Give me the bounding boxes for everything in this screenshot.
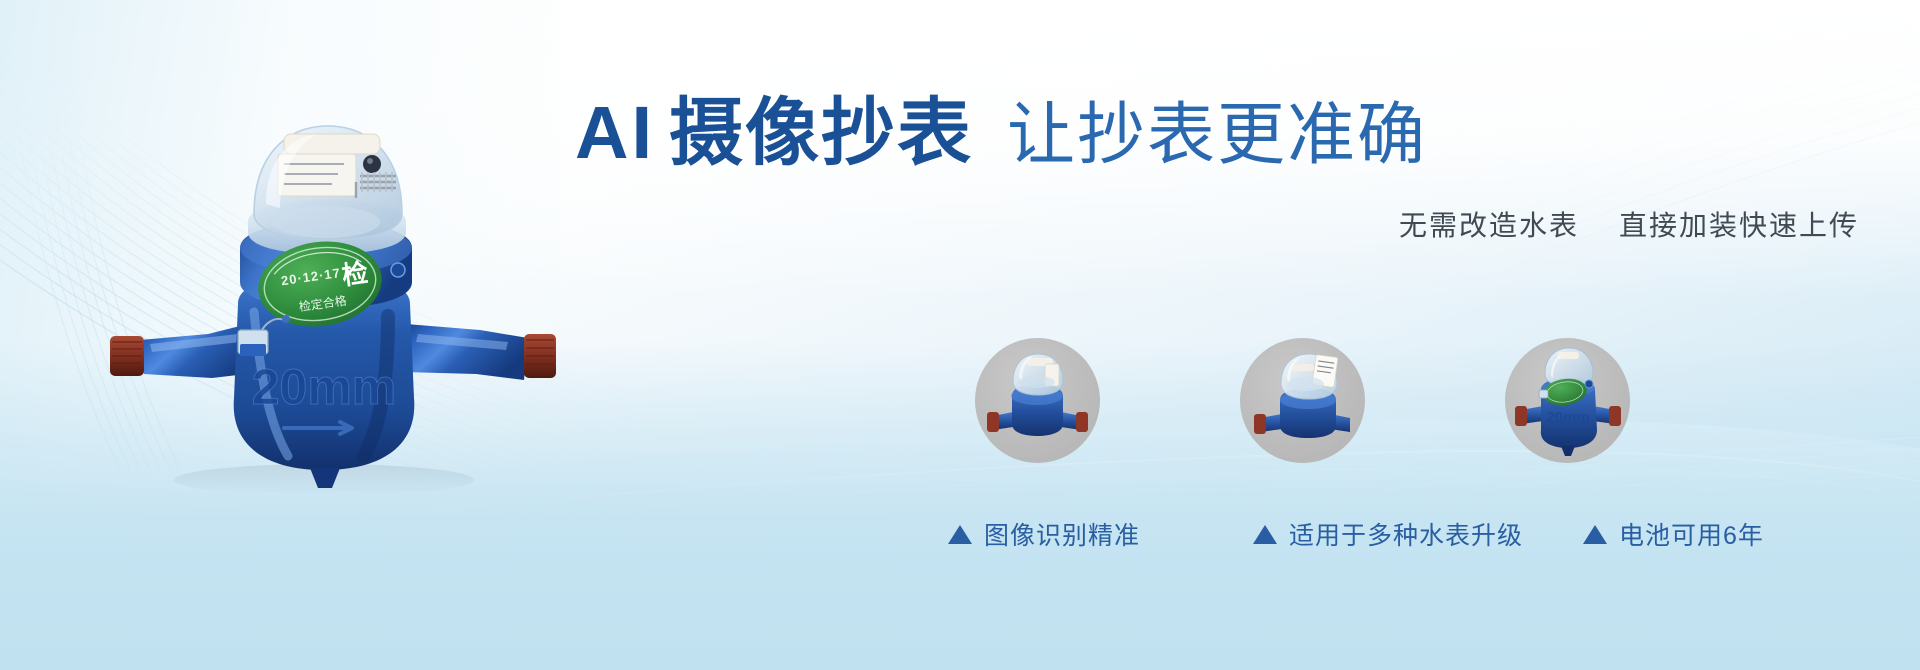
headline-tagline: 让抄表更准确 [1007,97,1427,173]
cap-screw [391,263,405,277]
feature-item-image-recognition: 图像识别精准 [948,516,1253,552]
hero-product-image: 20mm N8F [88,72,558,492]
triangle-marker-icon [1253,525,1277,544]
headline-ai: AI [575,91,655,174]
feature-label-2: 适用于多种水表升级 [1289,516,1523,552]
thumbnail-item-3[interactable]: 20mm [1490,338,1645,463]
page-title: AI摄像抄表让抄表更准确 [575,96,1875,170]
thumbnail-circle-2 [1240,338,1365,463]
body-size-marking: 20mm [252,359,397,415]
water-meter-thumb-icon-1 [975,338,1100,463]
water-meter-illustration: 20mm N8F [88,72,558,492]
register-dial [272,206,380,238]
subtitle: 无需改造水表直接加装快速上传 [575,204,1875,244]
thumbnail-circle-1 [975,338,1100,463]
feature-label-1: 图像识别精准 [984,516,1140,552]
headline-block: AI摄像抄表让抄表更准确 无需改造水表直接加装快速上传 [575,96,1875,244]
transparent-dome-cover [248,126,406,254]
svg-text:20mm: 20mm [1546,409,1589,426]
thumbnail-item-1[interactable] [960,338,1115,463]
triangle-marker-icon [1583,525,1607,544]
thumbnail-circle-3: 20mm [1505,338,1630,463]
feature-label-3: 电池可用6年 [1619,516,1764,552]
water-meter-thumb-icon-3: 20mm [1505,338,1630,463]
right-outlet-pipe [404,324,556,380]
thumbnail-item-2[interactable] [1225,338,1380,463]
subtitle-part-2: 直接加装快速上传 [1619,210,1859,241]
feature-item-meter-compatibility: 适用于多种水表升级 [1253,516,1583,552]
promo-banner: 20mm N8F [0,0,1920,670]
thumbnail-row: 20mm [960,338,1860,463]
feature-item-battery-life: 电池可用6年 [1583,516,1883,552]
triangle-marker-icon [948,525,972,544]
subtitle-part-1: 无需改造水表 [1399,210,1579,241]
camera-lens [363,155,381,173]
headline-main: 摄像抄表 [669,91,973,174]
seal-stamp-char: 检 [340,257,370,290]
water-meter-thumb-icon-2 [1240,338,1365,463]
feature-caption-row: 图像识别精准 适用于多种水表升级 电池可用6年 [948,516,1908,552]
